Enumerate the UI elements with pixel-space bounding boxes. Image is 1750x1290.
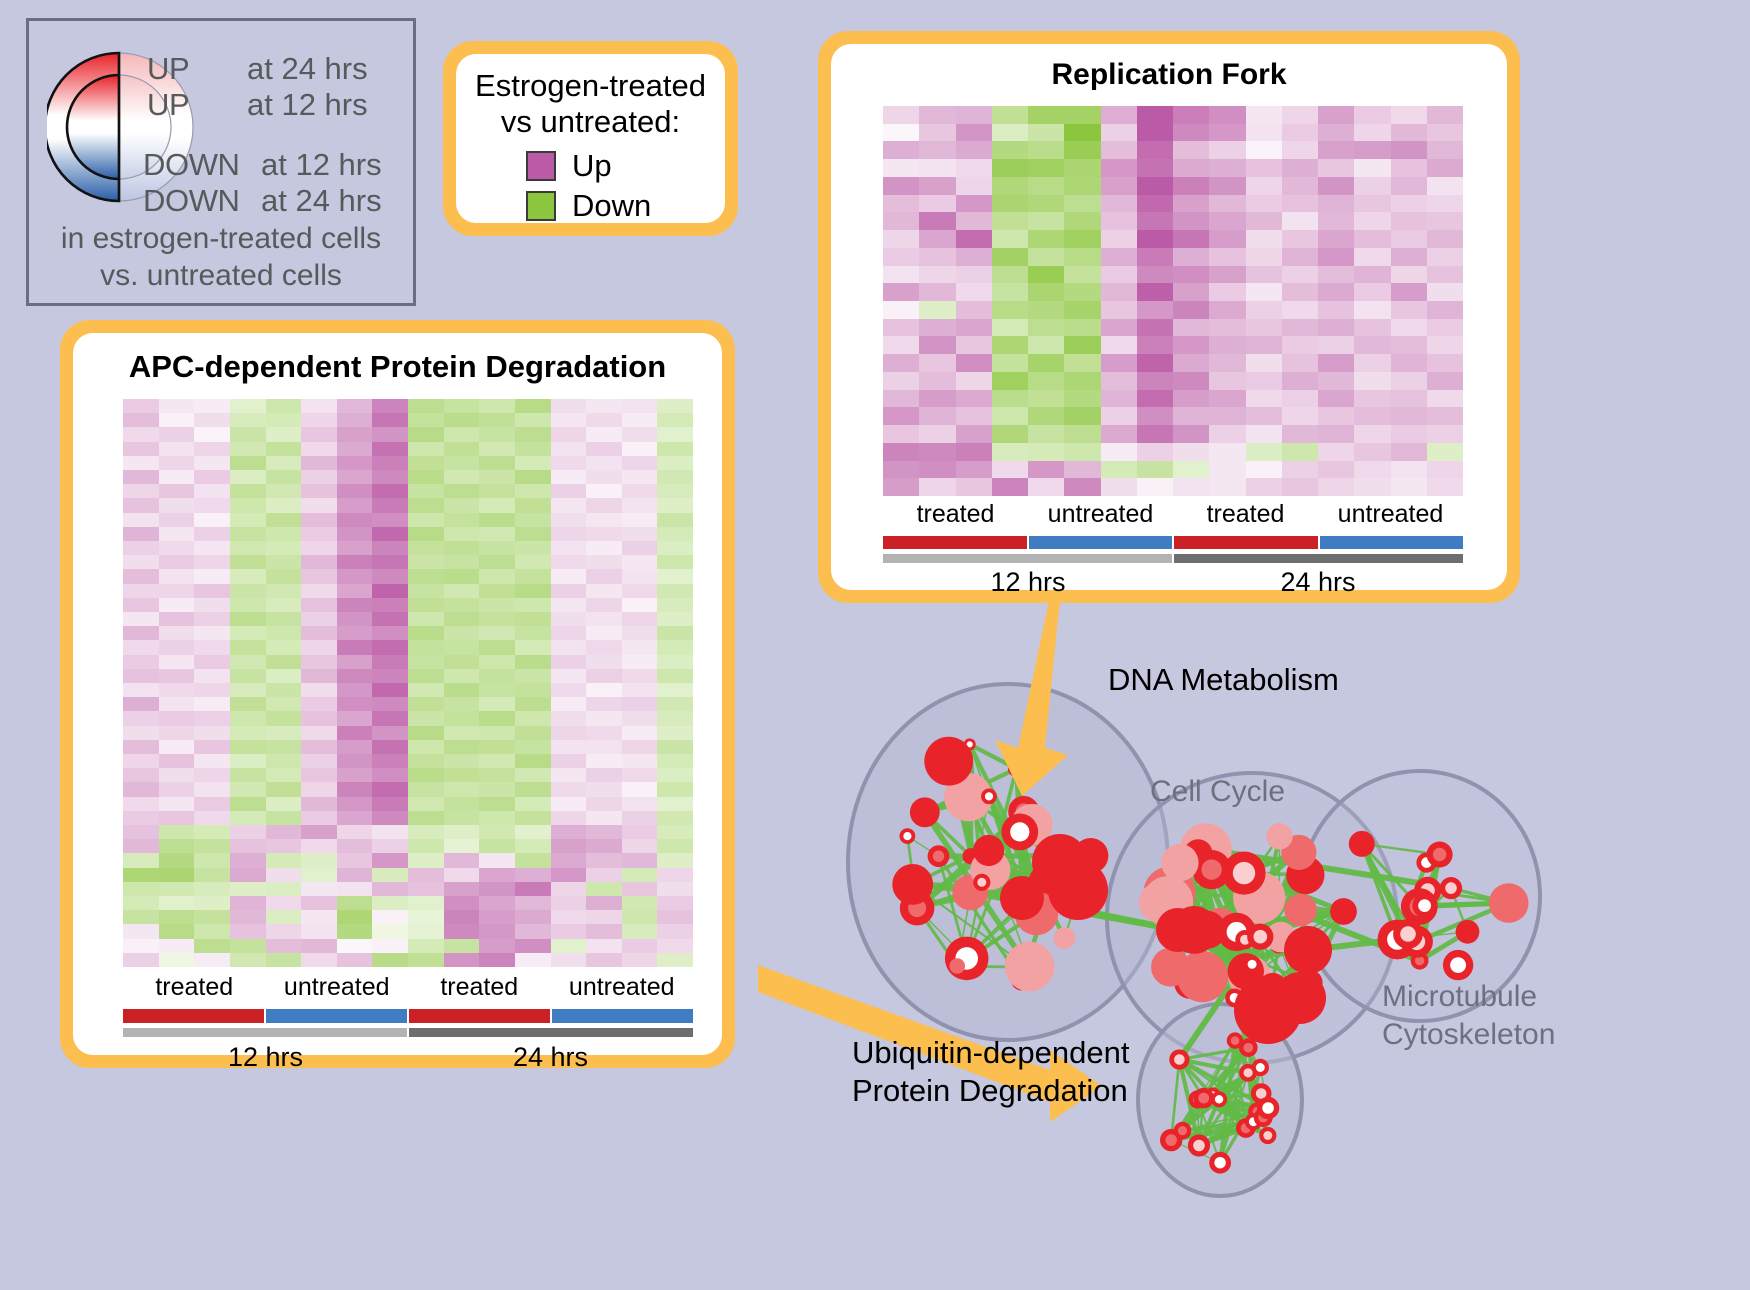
legend-item-down: Down <box>526 186 725 226</box>
apc-degradation-title: APC-dependent Protein Degradation <box>73 333 722 385</box>
network-diagram: DNA Metabolism Cell Cycle Microtubule Cy… <box>760 600 1750 1279</box>
wheel-time-up-12: at 12 hrs <box>247 87 368 123</box>
apc-degradation-panel: APC-dependent Protein Degradation treate… <box>60 320 735 1068</box>
bar-seg-1 <box>266 1009 407 1023</box>
group-label-2: treated <box>408 973 551 1002</box>
down-label: Down <box>572 188 651 224</box>
up-color-swatch <box>526 151 556 181</box>
bar-seg-0 <box>123 1028 407 1037</box>
replication-fork-title: Replication Fork <box>831 44 1507 92</box>
cluster-label-dna-metabolism: DNA Metabolism <box>1108 662 1339 698</box>
wheel-label-down-12: DOWN <box>143 147 240 183</box>
down-color-swatch <box>526 191 556 221</box>
group-label-3: untreated <box>1318 500 1463 529</box>
apc-degradation-heatmap <box>123 399 693 967</box>
bar-seg-0 <box>123 1009 264 1023</box>
legend-item-up: Up <box>526 146 725 186</box>
colorwheel-legend-box: UP at 24 hrs UP at 12 hrs DOWN at 12 hrs… <box>26 18 416 306</box>
wheel-label-up-24: UP <box>147 51 189 87</box>
connector-arrows <box>750 530 1750 1290</box>
apc-time-labels: 12 hrs24 hrs <box>123 1042 693 1073</box>
cluster-label-microtubule: Microtubule Cytoskeleton <box>1382 978 1555 1053</box>
updown-legend-panel: Estrogen-treated vs untreated: Up Down <box>443 41 738 236</box>
cluster-label-cell-cycle: Cell Cycle <box>1150 775 1285 809</box>
arrow-replication-fork <box>995 596 1068 796</box>
wheel-label-up-12: UP <box>147 87 189 123</box>
wheel-time-down-24: at 24 hrs <box>261 183 382 219</box>
microtubule-line-1: Microtubule <box>1382 978 1555 1016</box>
time-label-1: 24 hrs <box>408 1042 693 1073</box>
group-label-1: untreated <box>266 973 409 1002</box>
apc-condition-bar <box>123 1009 693 1023</box>
colorwheel-caption: in estrogen-treated cells vs. untreated … <box>29 221 413 294</box>
updown-legend-heading: Estrogen-treated vs untreated: <box>456 68 725 140</box>
replication-fork-panel: Replication Fork treateduntreatedtreated… <box>818 31 1520 603</box>
bar-seg-3 <box>552 1009 693 1023</box>
wheel-time-down-12: at 12 hrs <box>261 147 382 183</box>
wheel-time-up-24: at 24 hrs <box>247 51 368 87</box>
replication-fork-heatmap <box>883 106 1463 496</box>
replication-fork-group-labels: treateduntreatedtreateduntreated <box>883 500 1463 529</box>
up-label: Up <box>572 148 612 184</box>
group-label-0: treated <box>123 973 266 1002</box>
ubiquitin-line-2: Protein Degradation <box>852 1072 1130 1110</box>
group-label-1: untreated <box>1028 500 1173 529</box>
wheel-label-down-24: DOWN <box>143 183 240 219</box>
ubiquitin-line-1: Ubiquitin-dependent <box>852 1034 1130 1072</box>
group-label-0: treated <box>883 500 1028 529</box>
updown-heading-line-1: Estrogen-treated <box>464 68 717 104</box>
microtubule-line-2: Cytoskeleton <box>1382 1016 1555 1054</box>
group-label-3: untreated <box>551 973 694 1002</box>
apc-group-labels: treateduntreatedtreateduntreated <box>123 973 693 1002</box>
cluster-label-ubiquitin: Ubiquitin-dependent Protein Degradation <box>852 1034 1130 1110</box>
group-label-2: treated <box>1173 500 1318 529</box>
updown-heading-line-2: vs untreated: <box>464 104 717 140</box>
bar-seg-2 <box>409 1009 550 1023</box>
caption-line-1: in estrogen-treated cells <box>29 221 413 258</box>
apc-time-bar <box>123 1028 693 1037</box>
caption-line-2: vs. untreated cells <box>29 258 413 295</box>
time-label-0: 12 hrs <box>123 1042 408 1073</box>
bar-seg-1 <box>409 1028 693 1037</box>
